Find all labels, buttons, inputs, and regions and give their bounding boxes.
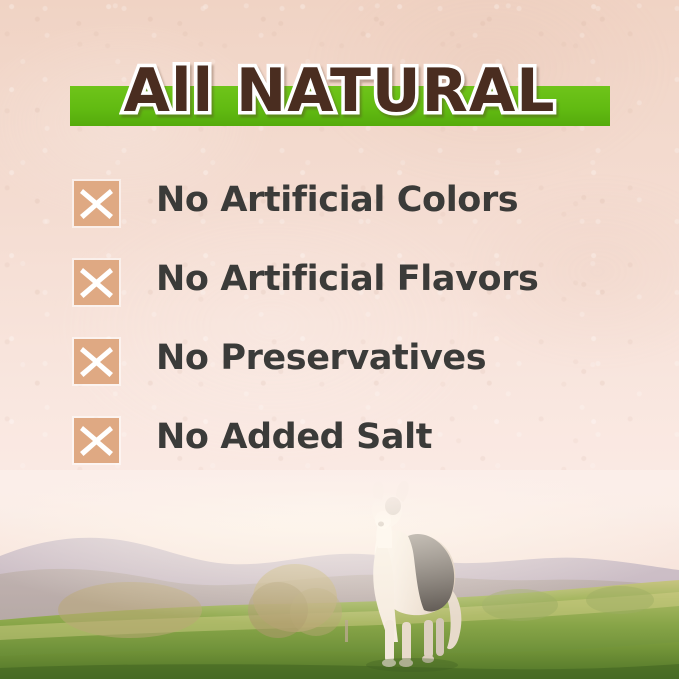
headline-banner: All NATURAL	[0, 48, 679, 140]
x-mark-icon	[74, 339, 119, 384]
list-item: No Preservatives	[74, 336, 634, 415]
list-item: No Artificial Flavors	[74, 257, 634, 336]
list-item: No Artificial Colors	[74, 178, 634, 257]
x-mark-icon	[74, 260, 119, 305]
list-item-label: No Artificial Colors	[156, 178, 518, 223]
page-title: All NATURAL	[0, 48, 679, 134]
dog-in-field-photo	[0, 470, 679, 679]
x-mark-icon	[74, 418, 119, 463]
list-item-label: No Added Salt	[156, 415, 432, 460]
all-natural-poster: All NATURAL No Artificial Colors No Arti…	[0, 0, 679, 679]
claims-list: No Artificial Colors No Artificial Flavo…	[74, 178, 634, 494]
list-item-label: No Artificial Flavors	[156, 257, 538, 302]
list-item-label: No Preservatives	[156, 336, 486, 381]
x-mark-icon	[74, 181, 119, 226]
